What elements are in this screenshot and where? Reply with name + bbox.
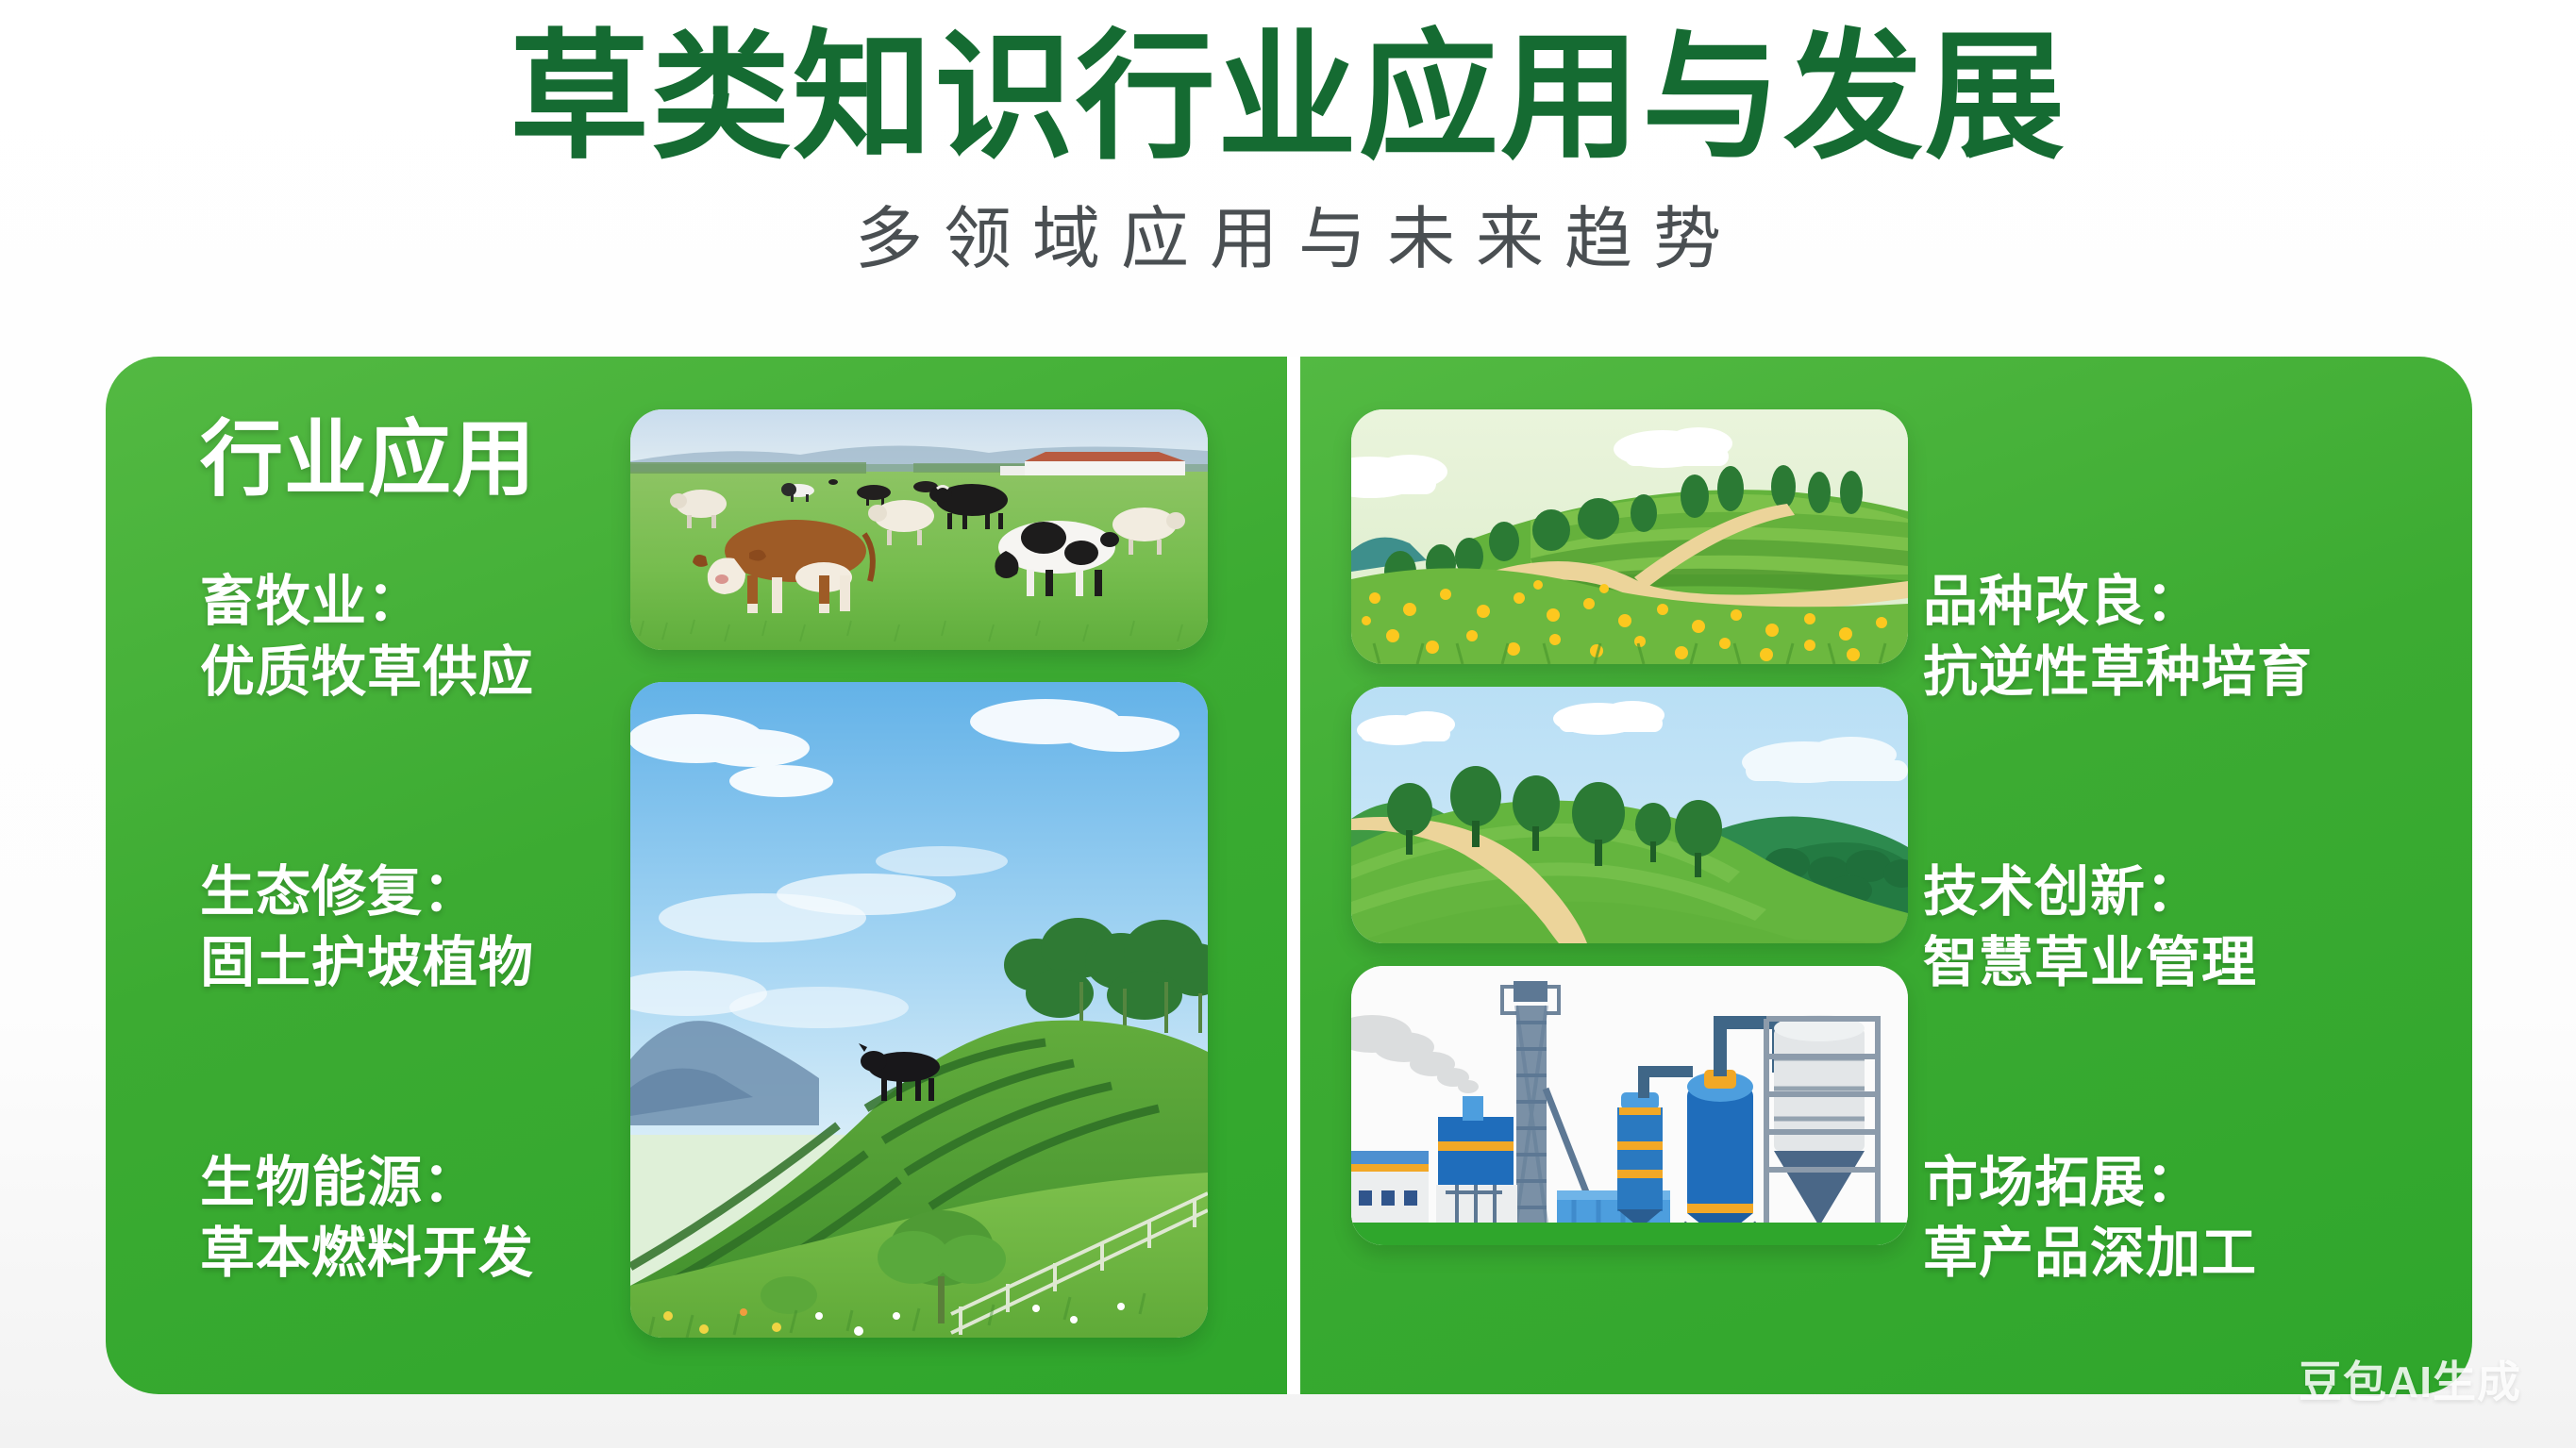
list-item-value: 抗逆性草种培育 xyxy=(1923,637,2313,707)
list-item-bioenergy: 生物能源： 草本燃料开发 xyxy=(200,1147,534,1290)
panel-development-trends: 发展趋势 品种改良： 抗逆性草种培育 技术创新： 智慧草业管理 市场拓展： 草产… xyxy=(1300,357,2472,1394)
panel-title-industry-applications: 行业应用 xyxy=(200,392,536,512)
pasture-with-cattle-photo xyxy=(630,409,1208,650)
list-item-label: 品种改良： xyxy=(1923,566,2313,637)
page-title: 草类知识行业应用与发展 xyxy=(0,23,2576,174)
list-item-value: 智慧草业管理 xyxy=(1923,927,2257,998)
list-item-label: 技术创新： xyxy=(1923,857,2257,927)
list-item-label: 市场拓展： xyxy=(1923,1147,2257,1218)
list-item-value: 优质牧草供应 xyxy=(200,637,534,707)
list-item-livestock: 畜牧业： 优质牧草供应 xyxy=(200,566,534,708)
content-board: 行业应用 畜牧业： 优质牧草供应 生态修复： 固土护坡植物 生物能源： 草本燃料… xyxy=(106,357,2472,1394)
list-item-market-expansion: 市场拓展： 草产品深加工 xyxy=(1923,1147,2257,1290)
list-item-label: 畜牧业： xyxy=(200,566,534,637)
list-item-eco-restoration: 生态修复： 固土护坡植物 xyxy=(200,857,534,999)
infographic-page: 草类知识行业应用与发展 多领域应用与未来趋势 行业应用 畜牧业： 优质牧草供应 … xyxy=(0,0,2576,1448)
list-item-value: 固土护坡植物 xyxy=(200,927,534,998)
list-item-label: 生物能源： xyxy=(200,1147,534,1218)
panel-divider xyxy=(1287,357,1300,1394)
list-item-variety-improvement: 品种改良： 抗逆性草种培育 xyxy=(1923,566,2313,708)
terraced-green-hillside-photo xyxy=(630,682,1208,1338)
list-item-tech-innovation: 技术创新： 智慧草业管理 xyxy=(1923,857,2257,999)
page-subtitle: 多领域应用与未来趋势 xyxy=(0,203,2576,277)
list-item-value: 草本燃料开发 xyxy=(200,1218,534,1289)
flower-field-illustration xyxy=(1351,409,1908,664)
rolling-hills-illustration xyxy=(1351,687,1908,943)
panel-industry-applications: 行业应用 畜牧业： 优质牧草供应 生态修复： 固土护坡植物 生物能源： 草本燃料… xyxy=(106,357,1287,1394)
processing-plant-illustration xyxy=(1351,966,1908,1245)
list-item-label: 生态修复： xyxy=(200,857,534,927)
list-item-value: 草产品深加工 xyxy=(1923,1218,2257,1289)
header: 草类知识行业应用与发展 多领域应用与未来趋势 xyxy=(0,0,2576,349)
